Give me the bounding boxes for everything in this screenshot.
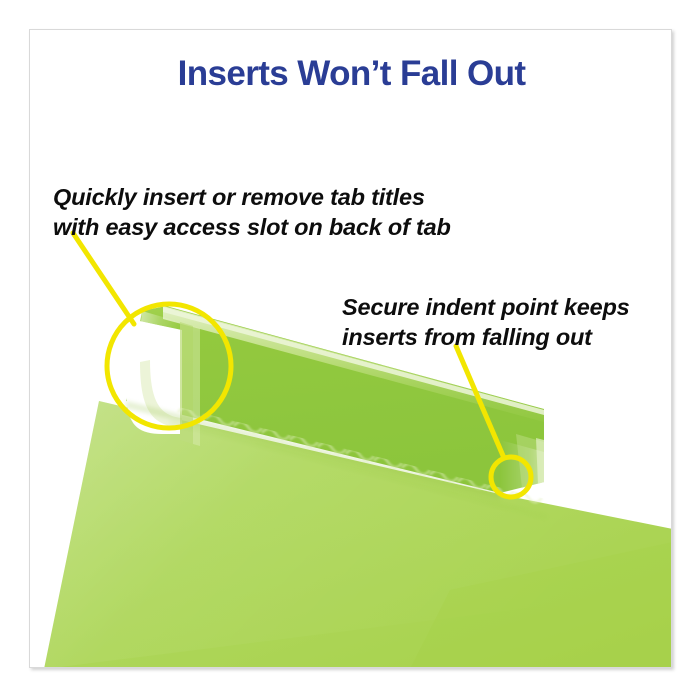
callout-access-slot-line2: with easy access slot on back of tab (53, 212, 451, 242)
page-title: Inserts Won’t Fall Out (30, 54, 672, 94)
product-photo-card: Inserts Won’t Fall Out Quickly insert or… (29, 29, 672, 668)
callout-indent-point-line2: inserts from falling out (342, 322, 630, 352)
screenshot-root: Inserts Won’t Fall Out Quickly insert or… (0, 0, 700, 700)
callout-access-slot-line1: Quickly insert or remove tab titles (53, 182, 451, 212)
callout-indent-point-line1: Secure indent point keeps (342, 292, 630, 322)
callout-text-access-slot: Quickly insert or remove tab titles with… (53, 182, 451, 242)
callout-text-indent-point: Secure indent point keeps inserts from f… (342, 292, 630, 352)
